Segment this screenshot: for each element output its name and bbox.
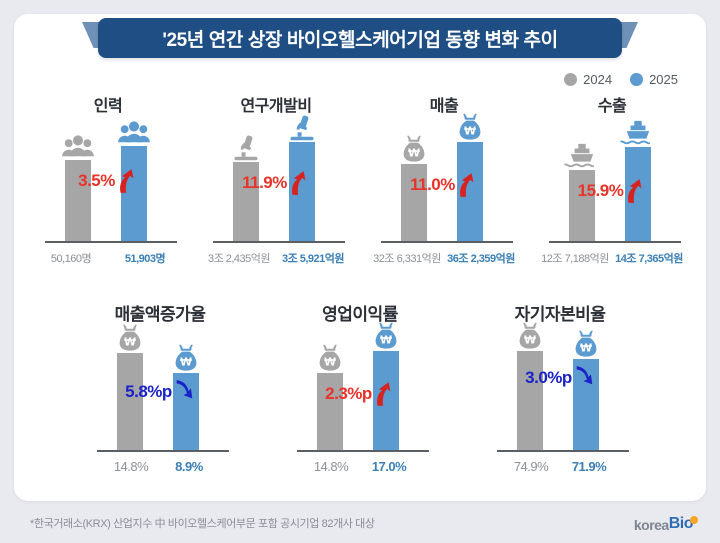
- delta-badge: 3.0%p: [485, 365, 635, 391]
- money-bag-icon: ₩: [310, 339, 350, 373]
- bar-2025[interactable]: ₩: [573, 359, 599, 451]
- svg-text:₩: ₩: [464, 125, 476, 138]
- bar-2024[interactable]: [233, 162, 259, 242]
- value-2025: 71.9%: [560, 459, 618, 474]
- legend-item-2024: 2024: [564, 72, 612, 87]
- chart-group-0: 인력 3.5% 50,160명 51,903명: [24, 92, 192, 266]
- group-values: 12조 7,188억원 14조 7,365억원: [537, 250, 687, 266]
- baseline-axis: [549, 241, 681, 243]
- svg-text:₩: ₩: [408, 147, 420, 160]
- svg-text:₩: ₩: [524, 334, 536, 347]
- svg-text:₩: ₩: [324, 356, 336, 369]
- chart-group-2: 매출 ₩ ₩ 11.0% 32조 6,331억원 36조 2,359억원: [360, 92, 528, 266]
- bar-2025[interactable]: ₩: [457, 142, 483, 242]
- bar-2024[interactable]: ₩: [117, 353, 143, 451]
- baseline-axis: [97, 450, 229, 452]
- baseline-axis: [45, 241, 177, 243]
- money-bag-icon: ₩: [166, 339, 206, 373]
- svg-text:₩: ₩: [380, 334, 392, 347]
- value-2025: 8.9%: [160, 459, 218, 474]
- value-2025: 51,903명: [108, 250, 182, 266]
- group-plot: ₩ ₩ 11.0%: [369, 120, 519, 248]
- bar-2025[interactable]: [289, 142, 315, 242]
- bar-2024[interactable]: ₩: [317, 373, 343, 451]
- group-plot: ₩ ₩ 5.8%p: [85, 329, 235, 457]
- value-2024: 12조 7,188억원: [538, 250, 612, 266]
- money-bag-icon: ₩: [566, 325, 606, 359]
- legend-label-2025: 2025: [649, 72, 678, 87]
- money-bag-icon: ₩: [510, 317, 550, 351]
- bar-2025[interactable]: [625, 147, 651, 242]
- microscope-icon: [226, 128, 266, 162]
- value-2024: 50,160명: [34, 250, 108, 266]
- banner-body: '25년 연간 상장 바이오헬스케어기업 동향 변화 추이: [98, 18, 622, 58]
- svg-text:₩: ₩: [180, 356, 192, 369]
- page-title: '25년 연간 상장 바이오헬스케어기업 동향 변화 추이: [162, 25, 557, 52]
- delta-badge: 3.5%: [33, 168, 183, 194]
- value-2025: 36조 2,359억원: [444, 250, 518, 266]
- people-icon: [58, 126, 98, 160]
- money-bag-icon: ₩: [110, 319, 150, 353]
- svg-text:₩: ₩: [580, 342, 592, 355]
- baseline-axis: [297, 450, 429, 452]
- value-2024: 32조 6,331억원: [370, 250, 444, 266]
- microscope-icon: [282, 108, 322, 142]
- group-plot: ₩ ₩ 2.3%p: [285, 329, 435, 457]
- ship-icon: [618, 113, 658, 147]
- people-icon: [114, 112, 154, 146]
- money-bag-icon: ₩: [366, 317, 406, 351]
- chart-group-3: 수출 15.9% 12조 7,188억원 14조 7,365억원: [528, 92, 696, 266]
- svg-text:₩: ₩: [124, 336, 136, 349]
- value-2024: 3조 2,435억원: [202, 250, 276, 266]
- value-2025: 14조 7,365억원: [612, 250, 686, 266]
- money-bag-icon: ₩: [450, 108, 490, 142]
- delta-badge: 5.8%p: [85, 379, 235, 405]
- ship-icon: [562, 136, 602, 170]
- group-plot: 15.9%: [537, 120, 687, 248]
- group-plot: 11.9%: [201, 120, 351, 248]
- koreabio-logo: korea Bio: [634, 515, 698, 533]
- footnote: *한국거래소(KRX) 산업지수 中 바이오헬스케어부문 포함 공시기업 82개…: [30, 515, 375, 531]
- delta-badge: 15.9%: [537, 178, 687, 204]
- chart-row-top: 인력 3.5% 50,160명 51,903명 연구개발비: [24, 92, 696, 266]
- chart-group-4: 매출액증가율 ₩ ₩ 5.8%p 14.8% 8.9%: [60, 300, 260, 474]
- bar-2024[interactable]: ₩: [517, 351, 543, 451]
- delta-badge: 2.3%p: [285, 381, 435, 407]
- chart-group-1: 연구개발비 11.9% 3조 2,435억원 3조 5,921억원: [192, 92, 360, 266]
- bar-2024[interactable]: ₩: [401, 164, 427, 242]
- group-plot: ₩ ₩ 3.0%p: [485, 329, 635, 457]
- value-2024: 74.9%: [502, 459, 560, 474]
- legend-swatch-2025: [630, 73, 643, 86]
- bar-2024[interactable]: [569, 170, 595, 242]
- chart-group-5: 영업이익률 ₩ ₩ 2.3%p 14.8% 17.0%: [260, 300, 460, 474]
- delta-badge: 11.0%: [369, 172, 519, 198]
- baseline-axis: [497, 450, 629, 452]
- bar-2025[interactable]: [121, 146, 147, 242]
- chart-group-6: 자기자본비율 ₩ ₩ 3.0%p 74.9% 71.9%: [460, 300, 660, 474]
- value-2025: 17.0%: [360, 459, 418, 474]
- group-values: 32조 6,331억원 36조 2,359억원: [369, 250, 519, 266]
- title-banner: '25년 연간 상장 바이오헬스케어기업 동향 변화 추이: [0, 18, 720, 58]
- group-values: 14.8% 17.0%: [285, 459, 435, 474]
- value-2024: 14.8%: [102, 459, 160, 474]
- value-2025: 3조 5,921억원: [276, 250, 350, 266]
- legend: 2024 2025: [564, 72, 678, 87]
- money-bag-icon: ₩: [394, 130, 434, 164]
- bar-2025[interactable]: ₩: [173, 373, 199, 451]
- legend-label-2024: 2024: [583, 72, 612, 87]
- group-values: 74.9% 71.9%: [485, 459, 635, 474]
- group-plot: 3.5%: [33, 120, 183, 248]
- chart-row-bottom: 매출액증가율 ₩ ₩ 5.8%p 14.8% 8.9% 영업이익률 ₩: [60, 300, 660, 474]
- bar-2025[interactable]: ₩: [373, 351, 399, 451]
- delta-badge: 11.9%: [201, 170, 351, 196]
- logo-text-korea: korea: [634, 517, 669, 533]
- legend-swatch-2024: [564, 73, 577, 86]
- logo-dot-icon: [690, 516, 698, 524]
- value-2024: 14.8%: [302, 459, 360, 474]
- baseline-axis: [381, 241, 513, 243]
- legend-item-2025: 2025: [630, 72, 678, 87]
- bar-2024[interactable]: [65, 160, 91, 242]
- group-values: 3조 2,435억원 3조 5,921억원: [201, 250, 351, 266]
- baseline-axis: [213, 241, 345, 243]
- group-values: 14.8% 8.9%: [85, 459, 235, 474]
- group-values: 50,160명 51,903명: [33, 250, 183, 266]
